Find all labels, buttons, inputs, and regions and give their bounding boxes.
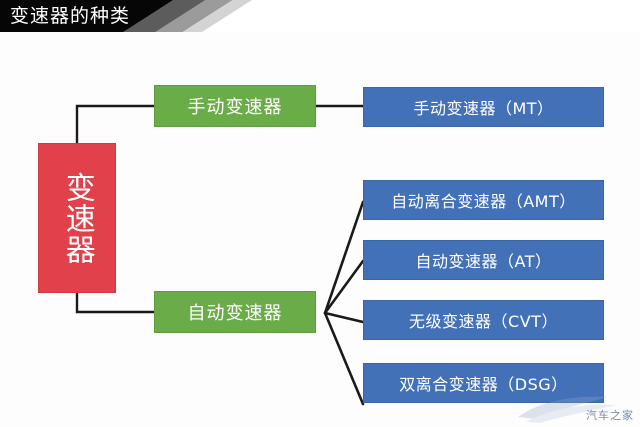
page-title: 变速器的种类 [10,2,130,30]
line-root-to-auto [77,293,154,312]
line-auto-to-dsg [325,313,363,404]
line-auto-to-cvt [325,313,363,322]
title-banner: 变速器的种类 [0,0,640,32]
line-auto-to-at [325,261,363,313]
slide-canvas: 变速器的种类 变速器 手动变速器 自动变速器 [0,0,640,427]
line-auto-to-amt [325,202,363,313]
watermark-text: 汽车之家 [586,407,634,423]
node-automatic-transmission[interactable]: 自动变速器 [154,291,316,333]
node-cvt[interactable]: 无级变速器（CVT） [363,300,604,340]
transmission-type-tree: 变速器 手动变速器 自动变速器 手动变速器（MT） 自动离合变速器（AMT） 自… [0,32,640,427]
node-at[interactable]: 自动变速器（AT） [363,240,604,280]
node-dsg[interactable]: 双离合变速器（DSG） [363,363,604,403]
node-manual-transmission[interactable]: 手动变速器 [154,85,316,127]
node-amt[interactable]: 自动离合变速器（AMT） [363,180,604,220]
node-mt[interactable]: 手动变速器（MT） [363,87,604,127]
node-root-transmission[interactable]: 变速器 [38,143,116,293]
line-root-to-manual [77,106,154,143]
